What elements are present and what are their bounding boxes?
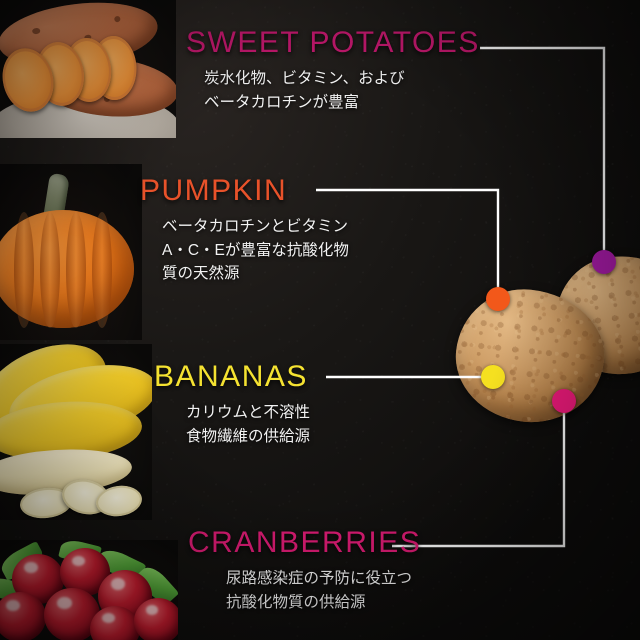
vignette-overlay xyxy=(0,0,640,640)
infographic-poster: SWEET POTATOES 炭水化物、ビタミン、および ベータカロチンが豊富 … xyxy=(0,0,640,640)
